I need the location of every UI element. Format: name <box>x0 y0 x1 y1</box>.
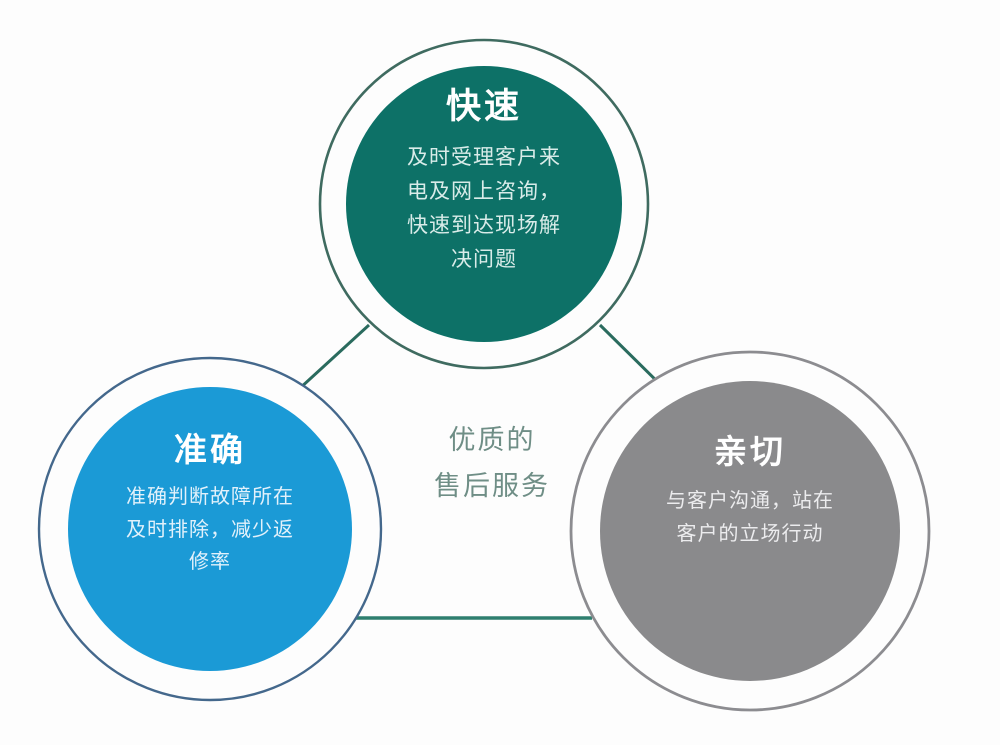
circle-accurate[interactable] <box>68 387 352 671</box>
diagram-artwork <box>0 0 1000 745</box>
diagram-canvas: 快速 及时受理客户来 电及网上咨询， 快速到达现场解 决问题 准确 准确判断故障… <box>0 0 1000 745</box>
circle-fast[interactable] <box>346 66 622 342</box>
circle-kind[interactable] <box>600 381 900 681</box>
